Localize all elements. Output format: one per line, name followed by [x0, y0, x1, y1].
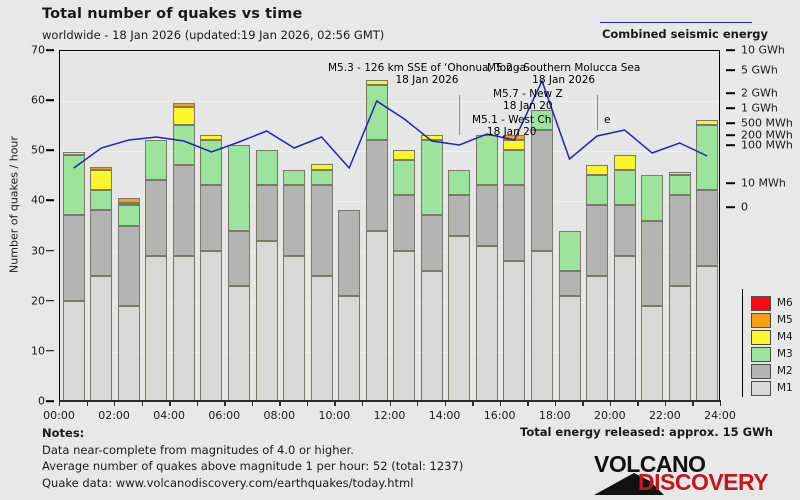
y-axis-tick-mark: [46, 250, 54, 252]
legend-item-m4[interactable]: M4: [751, 329, 799, 347]
y-axis-tick-mark: [46, 149, 54, 151]
legend-swatch-m4: [751, 330, 771, 345]
quake-annotation: M5.2 - Southern Molucca Sea18 Jan 2026: [487, 62, 640, 86]
energy-axis-tick-mark: [726, 92, 735, 94]
x-axis-tick-mark: [59, 400, 60, 406]
y-axis-tick-mark: [46, 99, 54, 101]
notes-block: Notes: Data near-complete from magnitude…: [42, 425, 463, 491]
y-axis-tick-label: 0: [38, 395, 45, 408]
energy-axis-tick-label: 0: [741, 201, 748, 214]
x-axis-tick-mark: [527, 400, 528, 406]
annotation-stem: [597, 95, 598, 130]
x-axis-tick-label: 00:00: [43, 409, 75, 422]
legend-label: M4: [777, 331, 793, 343]
legend-label: M5: [777, 314, 793, 326]
annotation-clipped-text: e: [604, 114, 610, 126]
y-axis-tick-mark: [46, 300, 54, 302]
x-axis-tick-mark: [362, 400, 363, 406]
x-axis-tick-mark: [637, 400, 638, 406]
annotation-title: M5.7 - New Z: [493, 88, 563, 100]
legend-label: M6: [777, 297, 793, 309]
notes-heading: Notes:: [42, 425, 463, 442]
annotation-stem: [459, 95, 460, 135]
x-axis-tick-mark: [307, 400, 308, 406]
quake-annotation: M5.7 - New Z18 Jan 20: [493, 88, 563, 112]
annotation-date: 18 Jan 2026: [487, 74, 640, 86]
energy-axis-tick-mark: [726, 107, 735, 109]
x-axis-tick-mark: [417, 400, 418, 406]
legend-swatch-m1: [751, 381, 771, 396]
energy-axis-tick-label: 100 MWh: [741, 139, 793, 152]
quake-annotation: M5.1 - West Ch18 Jan 20: [472, 114, 551, 138]
note-line-1: Data near-complete from magnitudes of 4.…: [42, 442, 463, 459]
x-axis-tick-label: 14:00: [429, 409, 461, 422]
y-axis-tick-mark: [46, 49, 54, 51]
x-axis-tick-label: 12:00: [374, 409, 406, 422]
y-axis-tick-label: 60: [31, 94, 45, 107]
logo-secondary-text: DISCOVERY: [638, 469, 768, 496]
x-axis-tick-mark: [279, 400, 280, 406]
x-axis-tick-mark: [142, 400, 143, 406]
x-axis-tick-mark: [169, 400, 170, 406]
legend-label: M1: [777, 382, 793, 394]
x-axis-tick-label: 18:00: [539, 409, 571, 422]
legend-item-m1[interactable]: M1: [751, 380, 799, 398]
chart-title: Total number of quakes vs time: [42, 6, 302, 22]
total-energy-label: Total energy released: approx. 15 GWh: [520, 425, 773, 439]
annotation-date: 18 Jan 20: [493, 100, 563, 112]
x-axis-tick-mark: [197, 400, 198, 406]
legend-swatch-m5: [751, 313, 771, 328]
legend-item-m6[interactable]: M6: [751, 295, 799, 313]
x-axis-tick-label: 10:00: [319, 409, 351, 422]
x-axis-tick-mark: [445, 400, 446, 406]
x-axis-tick-mark: [692, 400, 693, 406]
y-axis-left: Number of quakes / hour 010203040506070: [0, 0, 59, 460]
energy-axis-tick-mark: [726, 69, 735, 71]
x-axis-tick-mark: [224, 400, 225, 406]
plot-clip: [60, 51, 719, 401]
y-axis-tick-label: 30: [31, 244, 45, 257]
energy-axis-tick-label: 5 GWh: [741, 64, 778, 77]
energy-axis-tick-label: 1 GWh: [741, 102, 778, 115]
x-axis-tick-mark: [665, 400, 666, 406]
x-axis-tick-label: 02:00: [98, 409, 130, 422]
energy-axis-tick-mark: [726, 206, 735, 208]
y-axis-tick-mark: [46, 200, 54, 202]
energy-axis-tick-mark: [726, 182, 735, 184]
annotation-date: 18 Jan 20: [472, 126, 551, 138]
energy-axis-tick-label: 2 GWh: [741, 87, 778, 100]
x-axis-tick-mark: [87, 400, 88, 406]
x-axis-tick-label: 16:00: [484, 409, 516, 422]
x-axis-tick-mark: [555, 400, 556, 406]
y-axis-tick-mark: [46, 350, 54, 352]
note-line-3: Quake data: www.volcanodiscovery.com/ear…: [42, 475, 463, 492]
x-axis-tick-mark: [610, 400, 611, 406]
energy-axis-tick-label: 10 GWh: [741, 44, 785, 57]
chart-subtitle: worldwide - 18 Jan 2026 (updated:19 Jan …: [42, 28, 384, 42]
x-axis-tick-mark: [252, 400, 253, 406]
energy-axis-tick-mark: [726, 122, 735, 124]
plot-area: [59, 50, 720, 401]
x-axis-tick-mark: [114, 400, 115, 406]
legend-label: M3: [777, 348, 793, 360]
x-axis-tick-label: 08:00: [263, 409, 295, 422]
legend-swatch-m2: [751, 364, 771, 379]
y-axis-tick-label: 70: [31, 44, 45, 57]
y-axis-tick-label: 40: [31, 194, 45, 207]
x-axis-tick-mark: [390, 400, 391, 406]
annotation-title: M5.1 - West Ch: [472, 114, 551, 126]
legend-label: M2: [777, 365, 793, 377]
y-axis-tick-mark: [46, 400, 54, 402]
y-axis-tick-label: 20: [31, 294, 45, 307]
x-axis-tick-label: 04:00: [153, 409, 185, 422]
chart-page: Total number of quakes vs time worldwide…: [0, 0, 800, 500]
x-axis-tick-label: 22:00: [649, 409, 681, 422]
y-axis-tick-label: 50: [31, 144, 45, 157]
energy-line-series: [60, 51, 719, 401]
x-axis-tick-mark: [582, 400, 583, 406]
volcano-discovery-logo[interactable]: VOLCANO DISCOVERY: [578, 452, 778, 494]
y-axis-tick-label: 10: [31, 344, 45, 357]
magnitude-legend: M6M5M4M3M2M1: [742, 289, 798, 397]
annotation-title: M5.2 - Southern Molucca Sea: [487, 62, 640, 74]
energy-axis-tick-label: 10 MWh: [741, 177, 786, 190]
legend-swatch-m3: [751, 347, 771, 362]
x-axis-tick-label: 06:00: [208, 409, 240, 422]
legend-swatch-m6: [751, 296, 771, 311]
y-axis-title: Number of quakes / hour: [8, 105, 21, 305]
legend-item-m5[interactable]: M5: [751, 312, 799, 330]
energy-axis-tick-mark: [726, 49, 735, 51]
x-axis-tick-mark: [500, 400, 501, 406]
energy-axis-tick-mark: [726, 134, 735, 136]
x-axis-tick-mark: [334, 400, 335, 406]
note-line-2: Average number of quakes above magnitude…: [42, 458, 463, 475]
legend-item-m3[interactable]: M3: [751, 346, 799, 364]
x-axis-tick-mark: [472, 400, 473, 406]
energy-axis-tick-mark: [726, 144, 735, 146]
legend-item-m2[interactable]: M2: [751, 363, 799, 381]
x-axis-tick-label: 20:00: [594, 409, 626, 422]
